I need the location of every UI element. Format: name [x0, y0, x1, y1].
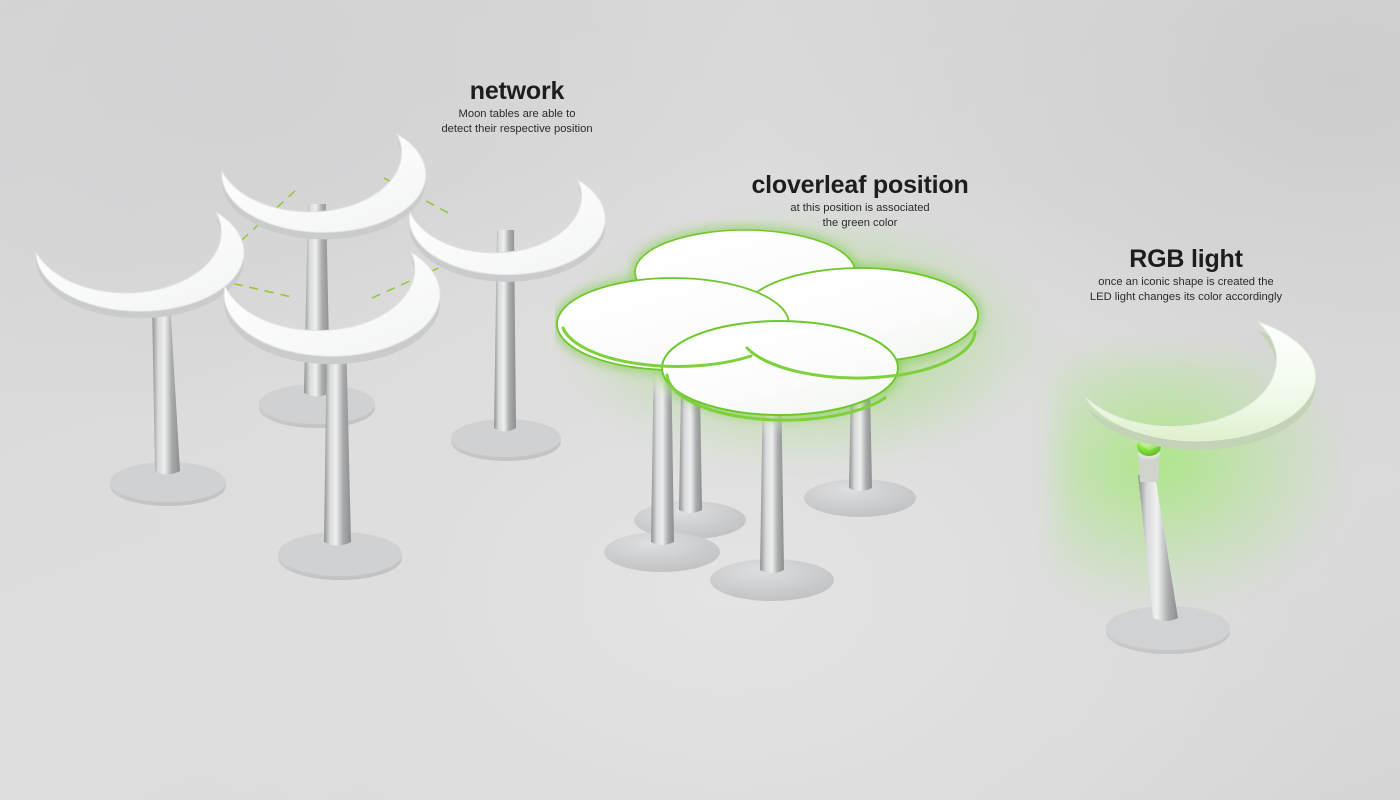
- moon-table-clover-right: [742, 268, 978, 362]
- annotation-subtitle: once an iconic shape is created the LED …: [1090, 275, 1282, 305]
- table-base: [804, 479, 916, 517]
- annotation-title: cloverleaf position: [751, 172, 968, 198]
- table-stem: [679, 330, 702, 513]
- table-base: [604, 532, 720, 572]
- annotation-rgb-light: RGB light once an iconic shape is create…: [1090, 246, 1282, 305]
- table-stem: [849, 338, 872, 491]
- table-stem: [1138, 475, 1178, 621]
- annotation-subtitle: at this position is associated the green…: [751, 201, 968, 231]
- moon-table-network-bottom[interactable]: [205, 228, 465, 578]
- annotation-network: network Moon tables are able to detect t…: [441, 78, 592, 137]
- cloverleaf-glow: [565, 215, 1045, 465]
- table-base: [634, 501, 746, 539]
- moon-table-clover-front: [662, 321, 898, 415]
- annotation-subtitle: Moon tables are able to detect their res…: [441, 107, 592, 137]
- cloverleaf-legs: [580, 330, 1000, 630]
- annotation-cloverleaf: cloverleaf position at this position is …: [751, 172, 968, 231]
- moon-table-rgb[interactable]: [1050, 300, 1370, 680]
- annotation-title: network: [441, 78, 592, 104]
- table-base: [710, 559, 834, 601]
- table-stem: [152, 302, 180, 475]
- table-stem: [651, 348, 674, 545]
- annotation-title: RGB light: [1090, 246, 1282, 272]
- table-stem: [760, 382, 784, 573]
- moon-table-clover-top: [635, 230, 855, 314]
- scene-canvas: network Moon tables are able to detect t…: [0, 0, 1400, 800]
